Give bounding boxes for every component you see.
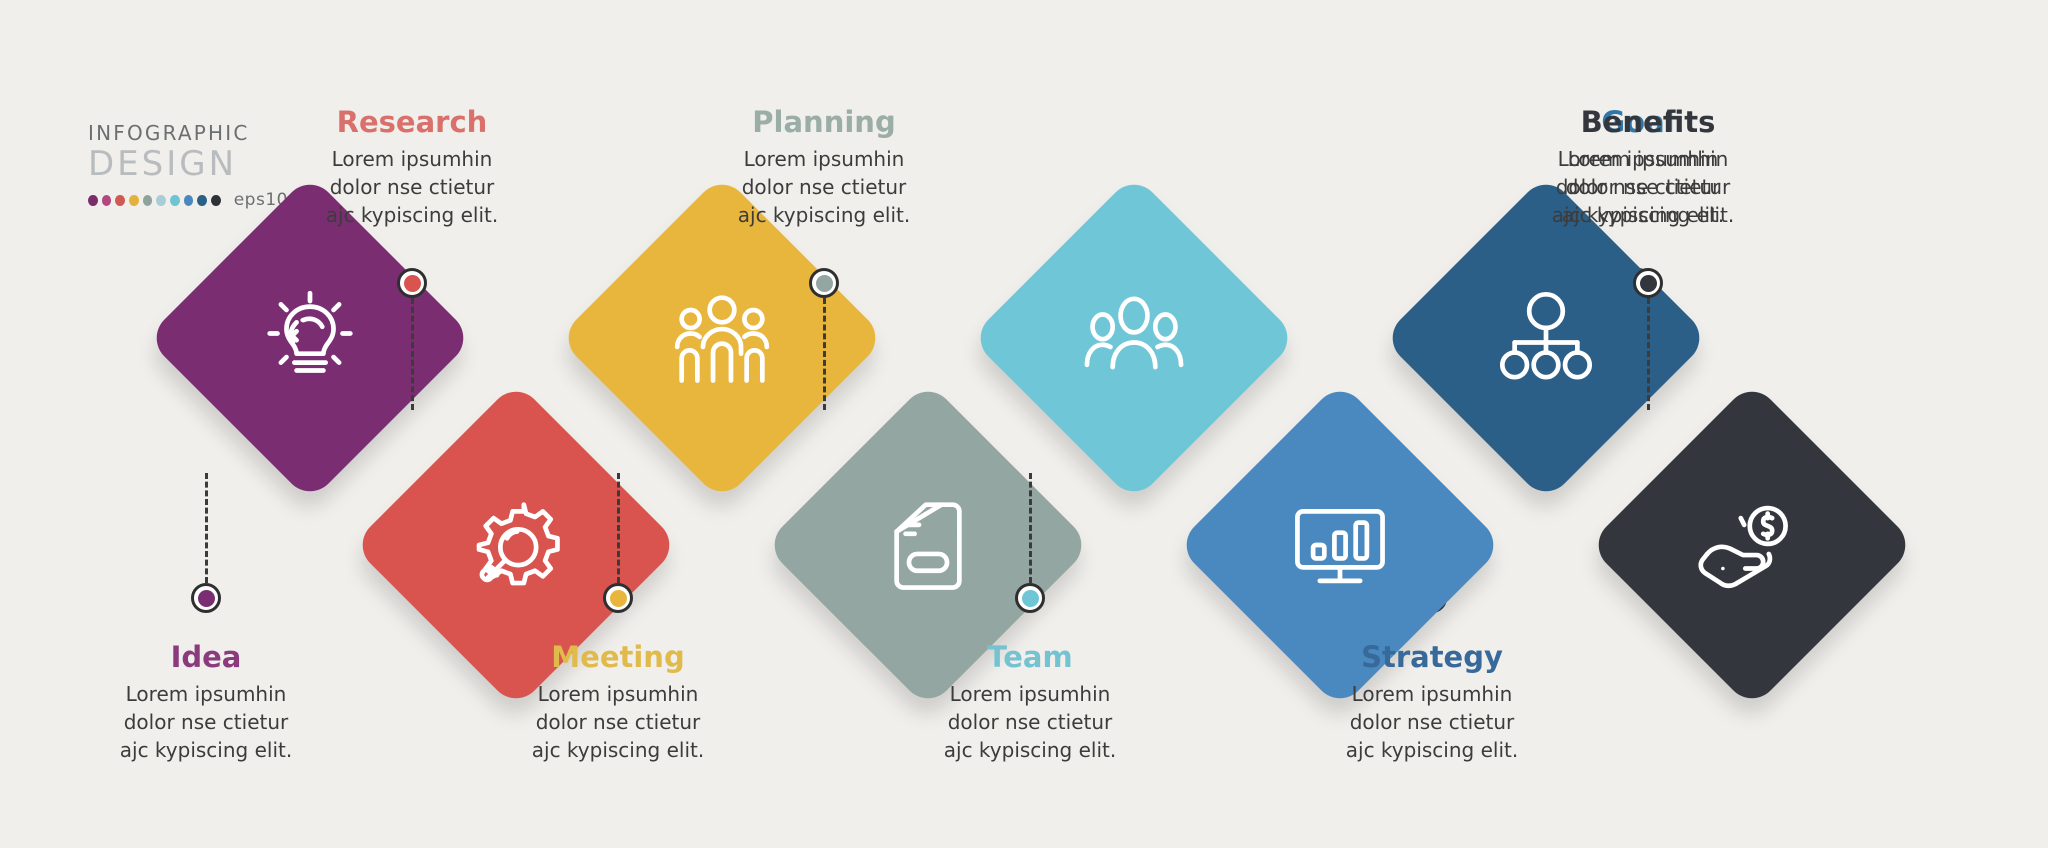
step-title: Benefits bbox=[1518, 105, 1778, 139]
palette-dot bbox=[129, 195, 139, 206]
connector-line bbox=[411, 298, 414, 410]
step-title: Team bbox=[900, 640, 1160, 674]
connector-dot-fill bbox=[1640, 275, 1657, 292]
step-body: Lorem ipsumhindolor nse ctieturajc kypis… bbox=[900, 680, 1160, 764]
palette-dot bbox=[115, 195, 125, 206]
palette-dot bbox=[170, 195, 180, 206]
step-body-line: dolor nse ctietur bbox=[282, 173, 542, 201]
step-body-line: ajc kypiscing elit. bbox=[76, 736, 336, 764]
step-title: Idea bbox=[76, 640, 336, 674]
step-text-team: TeamLorem ipsumhindolor nse ctieturajc k… bbox=[900, 640, 1160, 764]
step-body-line: dolor nse ctietur bbox=[1518, 173, 1778, 201]
step-body-line: Lorem ipsumhin bbox=[1518, 145, 1778, 173]
step-body-line: dolor nse ctietur bbox=[900, 708, 1160, 736]
step-body-line: ajc kypiscing elit. bbox=[900, 736, 1160, 764]
palette-dot bbox=[211, 195, 221, 206]
step-body-line: Lorem ipsumhin bbox=[900, 680, 1160, 708]
connector-dot[interactable] bbox=[1633, 268, 1663, 298]
step-text-benefits: BenefitsLorem ipsumhindolor nse ctietura… bbox=[1518, 105, 1778, 229]
connector-dot[interactable] bbox=[191, 583, 221, 613]
step-body: Lorem ipsumhindolor nse ctieturajc kypis… bbox=[282, 145, 542, 229]
palette-dot bbox=[184, 195, 194, 206]
logo-block: INFOGRAPHIC DESIGN eps10 bbox=[88, 122, 288, 210]
infographic-canvas: INFOGRAPHIC DESIGN eps10 IdeaLorem ipsum… bbox=[0, 0, 2048, 848]
connector-dot[interactable] bbox=[397, 268, 427, 298]
palette-dot bbox=[197, 195, 207, 206]
step-body-line: dolor nse ctietur bbox=[76, 708, 336, 736]
step-body: Lorem ipsumhindolor nse ctieturajc kypis… bbox=[76, 680, 336, 764]
step-body-line: ajc kypiscing elit. bbox=[1302, 736, 1562, 764]
palette-dot bbox=[102, 195, 112, 206]
connector-dot-fill bbox=[198, 590, 215, 607]
step-body-line: ajc kypiscing elit. bbox=[694, 201, 954, 229]
connector-dot-fill bbox=[816, 275, 833, 292]
step-body-line: dolor nse ctietur bbox=[694, 173, 954, 201]
palette-dot bbox=[156, 195, 166, 206]
step-title: Planning bbox=[694, 105, 954, 139]
connector-dot[interactable] bbox=[603, 583, 633, 613]
step-body: Lorem ipsumhindolor nse ctieturajc kypis… bbox=[1518, 145, 1778, 229]
step-body-line: ajc kypiscing elit. bbox=[282, 201, 542, 229]
palette-dot bbox=[143, 195, 153, 206]
connector-line bbox=[1029, 473, 1032, 583]
step-body-line: Lorem ipsumhin bbox=[694, 145, 954, 173]
step-body-line: dolor nse ctietur bbox=[1302, 708, 1562, 736]
connector-line bbox=[823, 298, 826, 410]
logo-title-infographic: INFOGRAPHIC bbox=[88, 122, 288, 144]
step-body-line: ajc kypiscing elit. bbox=[1518, 201, 1778, 229]
logo-title-design: DESIGN bbox=[88, 145, 288, 183]
connector-dot[interactable] bbox=[809, 268, 839, 298]
step-diamond-benefits[interactable] bbox=[1588, 381, 1916, 709]
step-body-line: Lorem ipsumhin bbox=[76, 680, 336, 708]
step-title: Research bbox=[282, 105, 542, 139]
step-text-planning: PlanningLorem ipsumhindolor nse ctietura… bbox=[694, 105, 954, 229]
step-text-meeting: MeetingLorem ipsumhindolor nse ctieturaj… bbox=[488, 640, 748, 764]
step-body: Lorem ipsumhindolor nse ctieturajc kypis… bbox=[488, 680, 748, 764]
step-body-line: Lorem ipsumhin bbox=[488, 680, 748, 708]
step-body: Lorem ipsumhindolor nse ctieturajc kypis… bbox=[1302, 680, 1562, 764]
step-title: Meeting bbox=[488, 640, 748, 674]
connector-line bbox=[617, 473, 620, 583]
step-body-line: Lorem ipsumhin bbox=[1302, 680, 1562, 708]
connector-line bbox=[1647, 298, 1650, 410]
step-text-research: ResearchLorem ipsumhindolor nse ctietura… bbox=[282, 105, 542, 229]
step-body: Lorem ipsumhindolor nse ctieturajc kypis… bbox=[694, 145, 954, 229]
logo-palette-dots: eps10 bbox=[88, 190, 288, 210]
connector-line bbox=[205, 473, 208, 583]
palette-dot bbox=[88, 195, 98, 206]
step-diamond-team[interactable] bbox=[970, 174, 1298, 502]
step-text-strategy: StrategyLorem ipsumhindolor nse ctietura… bbox=[1302, 640, 1562, 764]
connector-dot-fill bbox=[1022, 590, 1039, 607]
step-text-idea: IdeaLorem ipsumhindolor nse ctieturajc k… bbox=[76, 640, 336, 764]
step-title: Strategy bbox=[1302, 640, 1562, 674]
connector-dot-fill bbox=[404, 275, 421, 292]
step-body-line: ajc kypiscing elit. bbox=[488, 736, 748, 764]
connector-dot[interactable] bbox=[1015, 583, 1045, 613]
connector-dot-fill bbox=[610, 590, 627, 607]
step-body-line: Lorem ipsumhin bbox=[282, 145, 542, 173]
step-body-line: dolor nse ctietur bbox=[488, 708, 748, 736]
